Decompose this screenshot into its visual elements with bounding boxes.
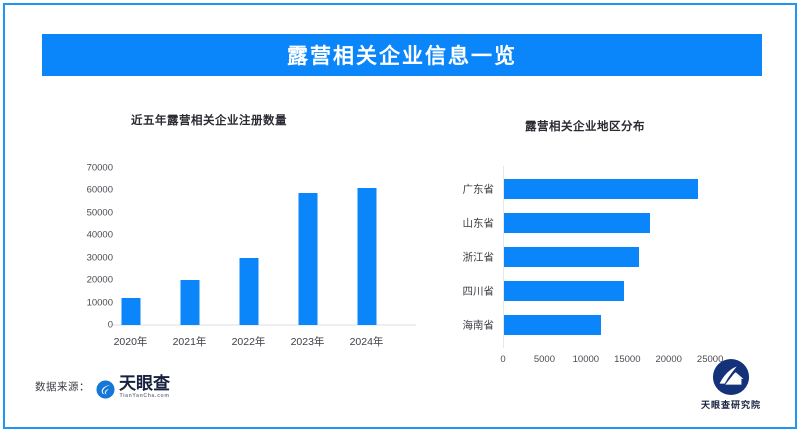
x-axis-tick-label: 10000 — [573, 354, 599, 365]
tianyancha-research-institute-icon — [712, 358, 750, 396]
title-banner: 露营相关企业信息一览 — [42, 34, 762, 76]
bar — [504, 315, 601, 335]
infographic-card: 露营相关企业信息一览 近五年露营相关企业注册数量 010000200003000… — [3, 3, 797, 429]
y-axis-tick-label: 20000 — [87, 275, 113, 286]
left-chart-title: 近五年露营相关企业注册数量 — [131, 112, 287, 128]
x-axis-tick-label: 2022年 — [232, 334, 266, 349]
category-label: 浙江省 — [463, 250, 495, 265]
brand-name: 天眼查研究院 — [701, 398, 761, 411]
bar — [357, 188, 376, 325]
data-source: 数据来源： 天眼查 TianYanCha.com — [35, 375, 170, 400]
bar — [239, 258, 258, 325]
regional-distribution-chart-panel: 露营相关企业地区分布 广东省山东省浙江省四川省海南省 0500010000150… — [435, 100, 780, 365]
x-axis-tick-label: 15000 — [614, 354, 640, 365]
bar — [121, 298, 140, 325]
x-axis-tick-label: 2021年 — [173, 334, 207, 349]
category-label: 山东省 — [463, 216, 495, 231]
data-source-label: 数据来源： — [35, 379, 90, 394]
bar — [180, 280, 199, 325]
page-title: 露营相关企业信息一览 — [287, 40, 517, 70]
y-axis-tick-label: 30000 — [87, 252, 113, 263]
x-axis-tick-label: 5000 — [534, 354, 555, 365]
bar — [298, 193, 317, 325]
y-axis-tick-label: 10000 — [87, 297, 113, 308]
tianyancha-logo: 天眼查 TianYanCha.com — [96, 375, 170, 400]
x-axis-tick-label: 2023年 — [291, 334, 325, 349]
x-axis-tick-label: 0 — [500, 354, 505, 365]
tianyancha-wordmark: 天眼查 TianYanCha.com — [119, 375, 170, 400]
bar — [504, 247, 639, 267]
x-axis-tick-label: 2020年 — [114, 334, 148, 349]
tianyancha-mark-icon — [96, 380, 115, 399]
bar — [504, 281, 624, 301]
y-axis-tick-label: 50000 — [87, 207, 113, 218]
x-axis-tick-label: 20000 — [655, 354, 681, 365]
category-label: 广东省 — [463, 182, 495, 197]
category-label: 海南省 — [463, 318, 495, 333]
y-axis-tick-label: 0 — [108, 320, 113, 331]
y-axis-tick-label: 40000 — [87, 230, 113, 241]
y-axis-tick-label: 60000 — [87, 185, 113, 196]
bar — [504, 179, 698, 199]
registration-count-chart-panel: 近五年露营相关企业注册数量 01000020000300004000050000… — [61, 100, 421, 365]
right-chart-plot-area: 广东省山东省浙江省四川省海南省 050001000015000200002500… — [503, 172, 735, 342]
tianyancha-name-en: TianYanCha.com — [119, 393, 169, 399]
tianyancha-name-cn: 天眼查 — [119, 375, 170, 392]
x-axis-tick-label: 2024年 — [350, 334, 384, 349]
bar — [504, 213, 650, 233]
left-chart-plot-area: 010000200003000040000500006000070000 202… — [119, 168, 414, 325]
y-axis-tick-label: 70000 — [87, 163, 113, 174]
category-label: 四川省 — [463, 284, 495, 299]
brand-footer: 天眼查研究院 — [701, 358, 761, 411]
right-chart-title: 露营相关企业地区分布 — [525, 118, 645, 134]
